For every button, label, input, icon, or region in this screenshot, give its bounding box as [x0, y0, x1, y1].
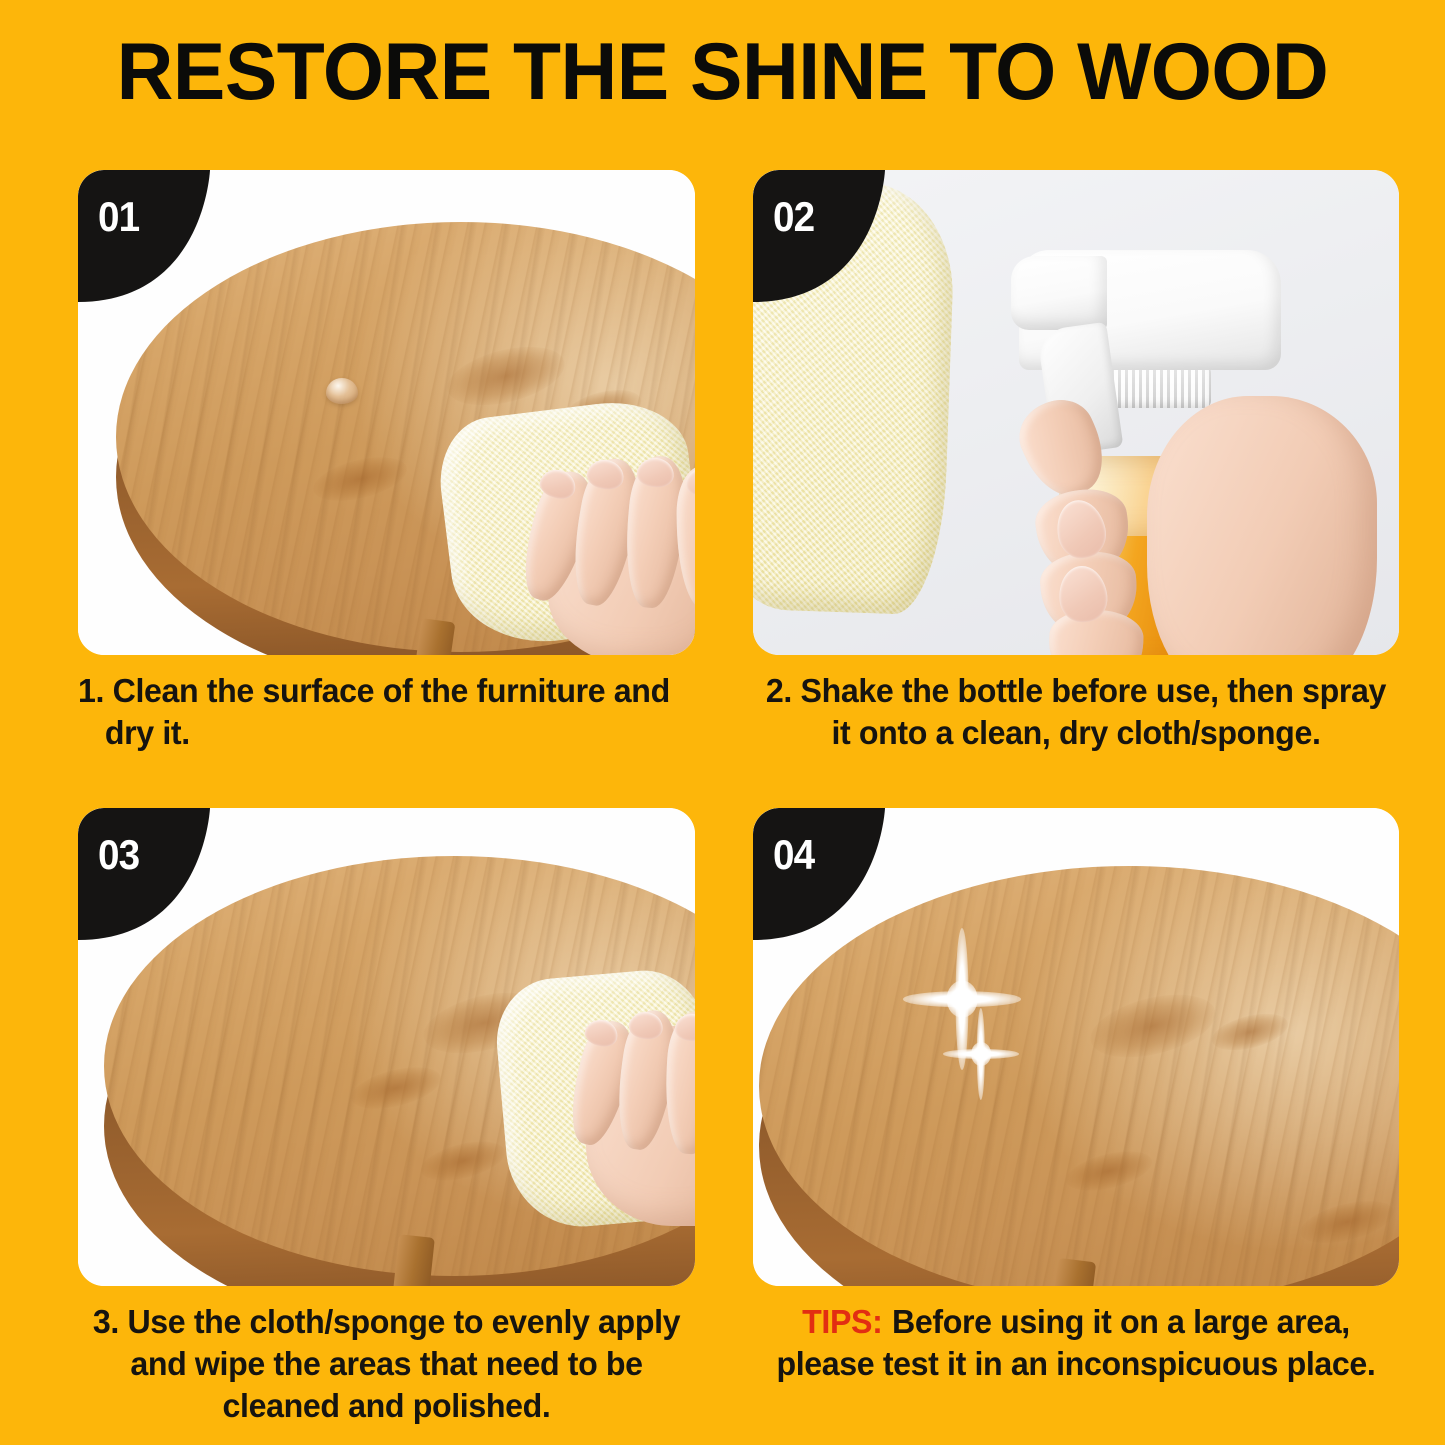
step-2-caption: 2. Shake the bottle before use, then spr… — [753, 655, 1399, 808]
step-3-caption: 3. Use the cloth/sponge to evenly apply … — [78, 1286, 695, 1412]
step-3-caption-line-1: 3. Use the cloth/sponge to evenly apply — [90, 1302, 682, 1344]
steps-grid: 01 1. Clean the surface of the furniture… — [78, 170, 1370, 1410]
infographic-poster: RESTORE THE SHINE TO WOOD — [0, 0, 1445, 1445]
step-1-badge-number: 01 — [98, 196, 139, 238]
step-3-caption-line-3: cleaned and polished. — [90, 1386, 682, 1428]
step-4-card: 04 — [753, 808, 1399, 1286]
step-1-caption-line-2: dry it. — [78, 713, 670, 755]
tips-caption: TIPS:Before using it on a large area, pl… — [753, 1286, 1399, 1412]
step-4-badge: 04 — [753, 808, 885, 940]
tips-caption-line-2: please test it in an inconspicuous place… — [766, 1344, 1386, 1386]
step-3-badge: 03 — [78, 808, 210, 940]
step-4-badge-number: 04 — [773, 834, 814, 876]
sparkle-icon — [943, 1008, 1019, 1100]
step-2-caption-line-1: 2. Shake the bottle before use, then spr… — [766, 671, 1386, 713]
step-1-badge: 01 — [78, 170, 210, 302]
step-2-badge-number: 02 — [773, 196, 814, 238]
step-3-caption-line-2: and wipe the areas that need to be — [90, 1344, 682, 1386]
step-3-badge-number: 03 — [98, 834, 139, 876]
tips-caption-line-1: Before using it on a large area, — [882, 1304, 1349, 1341]
step-3-card: 03 — [78, 808, 695, 1286]
step-2-caption-line-2: it onto a clean, dry cloth/sponge. — [766, 713, 1386, 755]
step-1-caption-line-1: 1. Clean the surface of the furniture an… — [78, 671, 670, 713]
step-1-caption: 1. Clean the surface of the furniture an… — [78, 655, 695, 808]
step-1-card: 01 — [78, 170, 695, 655]
tips-label: TIPS: — [802, 1304, 882, 1341]
step-2-badge: 02 — [753, 170, 885, 302]
step-2-card: 02 — [753, 170, 1399, 655]
page-title: RESTORE THE SHINE TO WOOD — [22, 28, 1424, 116]
